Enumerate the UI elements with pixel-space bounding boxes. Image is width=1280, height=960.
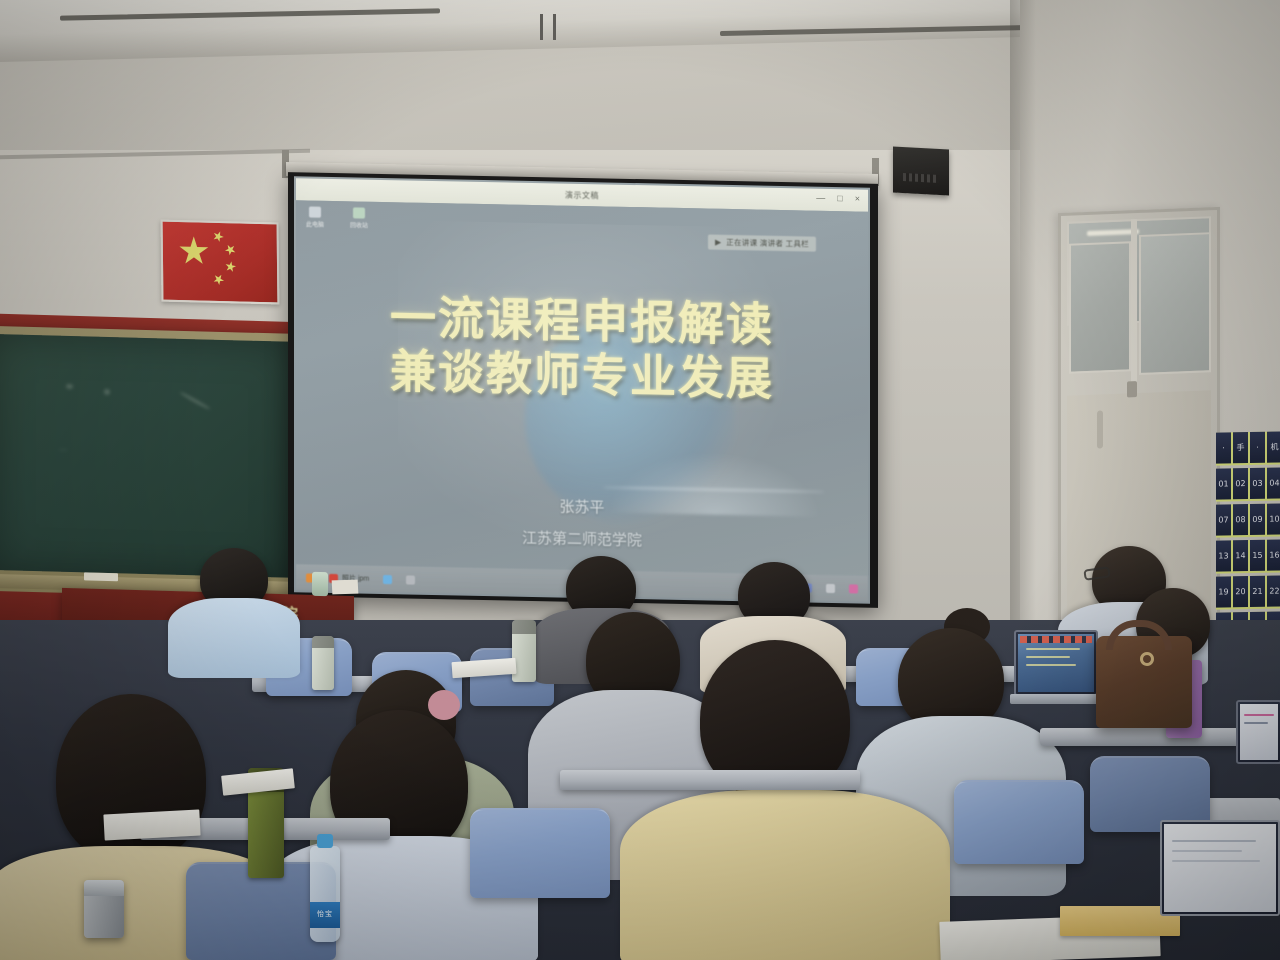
classroom-seat[interactable] — [470, 808, 610, 898]
slide-title-line-2: 兼谈教师专业发展 — [296, 343, 868, 409]
door-glass-right — [1139, 232, 1211, 375]
pocket-slot[interactable]: 02 — [1233, 468, 1248, 499]
pocket-slot[interactable]: 15 — [1250, 540, 1265, 571]
pocket-slot[interactable]: 04 — [1267, 467, 1280, 498]
taskbar-item[interactable] — [849, 584, 858, 593]
taskbar-icon[interactable] — [849, 584, 858, 593]
person-torso — [168, 598, 300, 678]
china-national-flag — [161, 220, 280, 305]
classroom-lecture-scene: ThinkPad 演示文稿 — □ × — [0, 0, 1280, 960]
projection-surface: 演示文稿 — □ × 此电脑 回收站 — [294, 176, 870, 604]
desktop-icon-mycomputer[interactable]: 此电脑 — [306, 206, 324, 228]
wall-corner-shadow — [1010, 0, 1036, 720]
door-lock[interactable] — [1127, 381, 1137, 397]
desktop-icon-recyclebin[interactable]: 回收站 — [350, 207, 368, 229]
slide-title-block: 一流课程申报解读 兼谈教师专业发展 — [296, 288, 868, 408]
taskbar-item[interactable] — [406, 575, 415, 584]
person-torso — [620, 790, 950, 960]
presenter-icon: ▶ — [715, 238, 721, 247]
pocket-chart-row: 13141516 — [1216, 539, 1280, 573]
laptop-lid — [1236, 700, 1280, 764]
close-icon[interactable]: × — [855, 193, 860, 203]
taskbar-item[interactable] — [826, 583, 835, 592]
pocket-chart-row: 19202122 — [1216, 575, 1280, 609]
pocket-slot[interactable]: 21 — [1250, 576, 1265, 607]
window-controls[interactable]: — □ × — [816, 193, 860, 204]
bottle-brand-label: 怡宝 — [310, 902, 340, 928]
blackboard-surface — [0, 334, 292, 578]
pocket-slot[interactable]: 03 — [1250, 468, 1265, 499]
pocket-slot[interactable]: 08 — [1233, 504, 1248, 535]
bag-buckle — [1140, 652, 1154, 666]
ceiling-rail-clip — [540, 14, 556, 40]
taskbar-icon[interactable] — [383, 574, 392, 583]
desktop-icon-label: 此电脑 — [306, 219, 324, 228]
pocket-chart-row: ·手·机 — [1216, 431, 1280, 465]
laptop-base — [1010, 694, 1102, 704]
notebook — [103, 810, 200, 841]
slide-organization: 江苏第二师范学院 — [296, 522, 868, 554]
laptop-lid — [1014, 630, 1098, 696]
presenter-toolbar-chip[interactable]: ▶ 正在讲课 演讲者 工具栏 — [708, 235, 816, 252]
flag-star-small-1 — [211, 229, 225, 243]
flag-star-large — [179, 236, 209, 267]
lectern-cup — [312, 572, 328, 596]
pocket-slot[interactable]: 09 — [1250, 504, 1265, 535]
maximize-icon[interactable]: □ — [837, 193, 842, 203]
taskbar-icon[interactable] — [406, 575, 415, 584]
laptop-screen — [1164, 824, 1276, 912]
laptop-screen — [1018, 634, 1094, 692]
bottle-cap — [317, 834, 333, 848]
pocket-slot[interactable]: 20 — [1233, 576, 1248, 607]
pocket-chart-row: 01020304 — [1216, 467, 1280, 501]
door-glass-left — [1069, 241, 1131, 373]
laptop-lid — [1160, 820, 1280, 916]
lectern-papers — [332, 580, 359, 595]
water-bottle: 怡宝 — [310, 846, 340, 942]
flag-star-small-3 — [224, 260, 237, 273]
taskbar-item[interactable] — [383, 574, 392, 583]
pocket-slot[interactable]: 10 — [1267, 503, 1280, 534]
pocket-slot[interactable]: · — [1250, 432, 1265, 463]
flag-star-small-4 — [211, 272, 226, 287]
student-desk — [560, 770, 860, 790]
desktop-icon-label: 回收站 — [350, 220, 368, 229]
minimize-icon[interactable]: — — [816, 193, 825, 203]
pocket-slot[interactable]: · — [1216, 432, 1231, 463]
hair-tie — [428, 690, 460, 720]
projection-screen: 演示文稿 — □ × 此电脑 回收站 — [288, 172, 878, 608]
pocket-slot[interactable]: 07 — [1216, 504, 1231, 535]
window-title: 演示文稿 — [565, 189, 599, 201]
steel-tumbler — [84, 880, 124, 938]
pocket-slot[interactable]: 手 — [1233, 432, 1248, 463]
taskbar-icon[interactable] — [826, 583, 835, 592]
pocket-slot[interactable]: 13 — [1216, 540, 1231, 571]
desktop-icons: 此电脑 回收站 — [306, 206, 368, 229]
door-handle[interactable] — [1097, 410, 1103, 448]
student-desk — [1040, 728, 1240, 746]
pocket-slot[interactable]: 19 — [1216, 576, 1231, 607]
leather-handbag — [1096, 636, 1192, 728]
pocket-slot[interactable]: 16 — [1267, 539, 1280, 570]
pocket-slot[interactable]: 机 — [1267, 431, 1280, 462]
presenter-toolbar-label: 正在讲课 演讲者 工具栏 — [726, 237, 809, 250]
laptop-screen — [1240, 704, 1278, 760]
pocket-slot[interactable]: 14 — [1233, 540, 1248, 571]
flag-star-small-2 — [223, 242, 239, 258]
pocket-slot[interactable]: 22 — [1267, 575, 1280, 606]
slide-canvas: 此电脑 回收站 ▶ 正在讲课 演讲者 工具栏 一流课程申报解读 兼谈教师专业发展… — [296, 200, 868, 575]
chalk-eraser — [84, 572, 118, 581]
pocket-slot[interactable]: 01 — [1216, 468, 1231, 499]
white-thermos — [312, 636, 334, 690]
classroom-seat[interactable] — [954, 780, 1084, 864]
pocket-chart-row: 07080910 — [1216, 503, 1280, 537]
wall-speaker — [893, 147, 949, 196]
